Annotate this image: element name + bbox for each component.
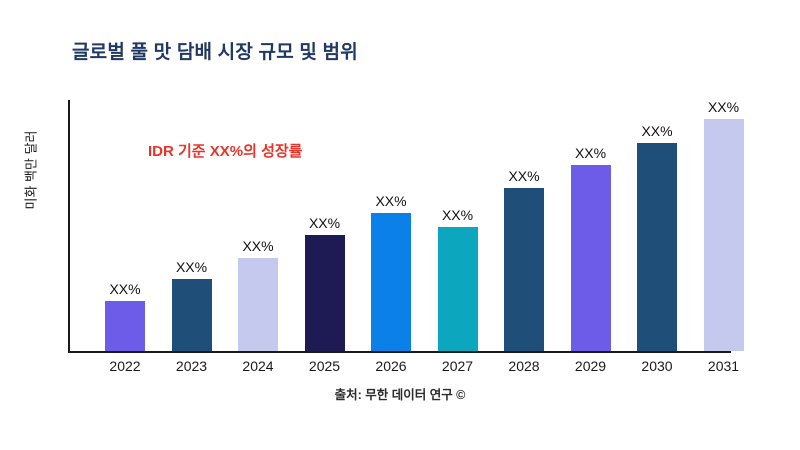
bar-value-label: XX% <box>641 124 672 138</box>
y-axis-label-container: 미화 백만 달러 <box>8 105 52 235</box>
bar-2022[interactable]: XX% <box>105 282 145 351</box>
bar-rect[interactable] <box>571 165 611 351</box>
bar-2023[interactable]: XX% <box>172 260 212 351</box>
bar-value-label: XX% <box>442 208 473 222</box>
bar-2030[interactable]: XX% <box>637 124 677 351</box>
x-tick-2031: 2031 <box>684 358 764 374</box>
bar-2024[interactable]: XX% <box>238 239 278 351</box>
bar-value-label: XX% <box>242 239 273 253</box>
bar-rect[interactable] <box>105 301 145 351</box>
bar-value-label: XX% <box>508 169 539 183</box>
bar-rect[interactable] <box>438 227 478 351</box>
bar-rect[interactable] <box>305 235 345 351</box>
page-title: 글로벌 풀 맛 담배 시장 규모 및 범위 <box>72 37 358 64</box>
y-axis-label: 미화 백만 달러 <box>21 131 40 210</box>
y-axis-line <box>68 100 70 353</box>
bar-2029[interactable]: XX% <box>571 146 611 351</box>
bar-2031[interactable]: XX% <box>704 100 744 351</box>
bar-rect[interactable] <box>637 143 677 351</box>
bar-value-label: XX% <box>375 194 406 208</box>
x-axis-line <box>68 351 731 353</box>
chart-container: 글로벌 풀 맛 담배 시장 규모 및 범위 미화 백만 달러 IDR 기준 XX… <box>0 0 800 450</box>
bar-rect[interactable] <box>238 258 278 351</box>
bar-rect[interactable] <box>704 119 744 351</box>
bar-value-label: XX% <box>708 100 739 114</box>
bar-value-label: XX% <box>575 146 606 160</box>
bar-rect[interactable] <box>371 213 411 351</box>
plot-area: IDR 기준 XX%의 성장률 XX%XX%XX%XX%XX%XX%XX%XX%… <box>68 100 778 353</box>
bar-rect[interactable] <box>504 188 544 351</box>
bar-2028[interactable]: XX% <box>504 169 544 351</box>
bar-2027[interactable]: XX% <box>438 208 478 351</box>
bar-2026[interactable]: XX% <box>371 194 411 351</box>
growth-rate-annotation: IDR 기준 XX%의 성장률 <box>148 140 302 161</box>
source-caption: 출처: 무한 데이터 연구 © <box>0 384 800 403</box>
bar-value-label: XX% <box>176 260 207 274</box>
bar-value-label: XX% <box>109 282 140 296</box>
bar-value-label: XX% <box>309 216 340 230</box>
bar-rect[interactable] <box>172 279 212 351</box>
bar-2025[interactable]: XX% <box>305 216 345 351</box>
